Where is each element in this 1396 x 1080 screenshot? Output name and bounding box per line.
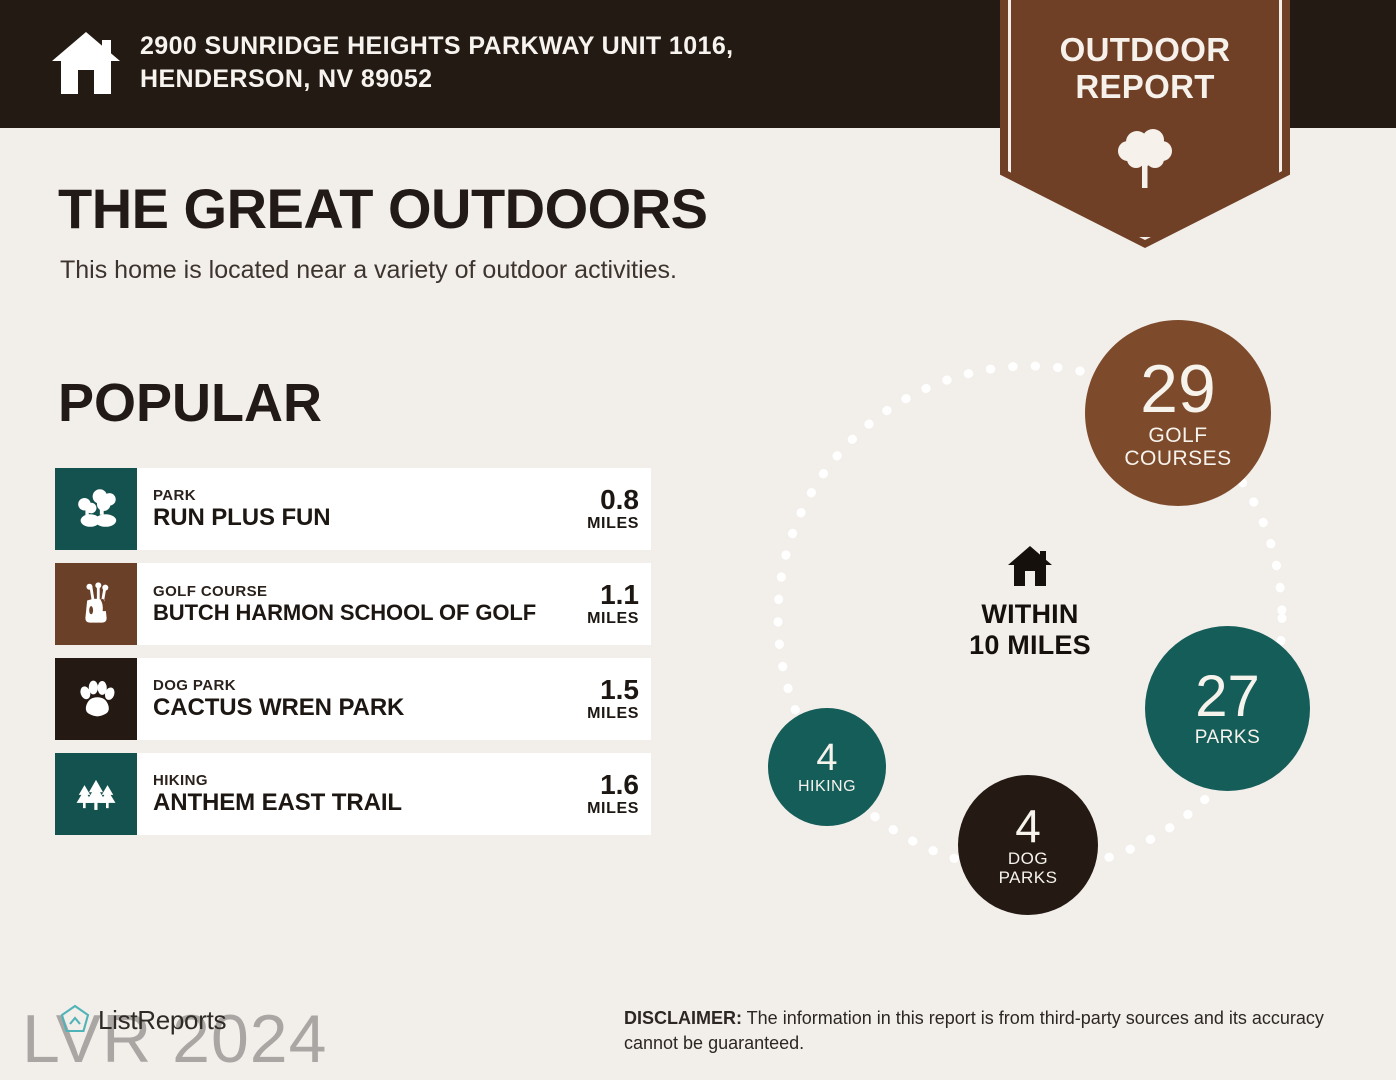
center-label-line-2: 10 MILES — [920, 630, 1140, 661]
list-item[interactable]: HIKING ANTHEM EAST TRAIL 1.6 MILES — [55, 753, 651, 835]
tree-icon — [1115, 126, 1175, 190]
list-item-text: HIKING ANTHEM EAST TRAIL — [137, 753, 547, 835]
within-10-miles-bubble-chart: 29 GOLF COURSES 27 PARKS 4 DOG PARKS 4 H… — [740, 320, 1340, 920]
paw-print-icon — [73, 676, 119, 722]
address-line-1: 2900 SUNRIDGE HEIGHTS PARKWAY UNIT 1016, — [140, 30, 940, 63]
home-icon — [1007, 545, 1053, 587]
list-item[interactable]: DOG PARK CACTUS WREN PARK 1.5 MILES — [55, 658, 651, 740]
address-line-2: HENDERSON, NV 89052 — [140, 63, 940, 96]
distance-value: 1.6 — [600, 770, 639, 799]
bubble-chart-center: WITHIN 10 MILES — [920, 545, 1140, 662]
paw-print-icon-tile — [55, 658, 137, 740]
list-item-name: BUTCH HARMON SCHOOL OF GOLF — [153, 600, 547, 625]
list-item-distance: 0.8 MILES — [547, 468, 651, 550]
list-item[interactable]: GOLF COURSE BUTCH HARMON SCHOOL OF GOLF … — [55, 563, 651, 645]
badge-title: OUTDOOR REPORT — [1000, 32, 1290, 106]
distance-value: 0.8 — [600, 485, 639, 514]
list-item-text: DOG PARK CACTUS WREN PARK — [137, 658, 547, 740]
distance-value: 1.1 — [600, 580, 639, 609]
list-item-text: PARK RUN PLUS FUN — [137, 468, 547, 550]
list-item-name: ANTHEM EAST TRAIL — [153, 789, 547, 817]
distance-unit: MILES — [587, 799, 639, 818]
list-item-name: CACTUS WREN PARK — [153, 694, 547, 722]
page-title: THE GREAT OUTDOORS — [58, 176, 708, 241]
popular-heading: POPULAR — [58, 372, 322, 434]
list-item-category: PARK — [153, 487, 547, 504]
list-item[interactable]: PARK RUN PLUS FUN 0.8 MILES — [55, 468, 651, 550]
disclaimer: DISCLAIMER: The information in this repo… — [624, 1006, 1338, 1056]
list-item-category: HIKING — [153, 772, 547, 789]
pine-trees-icon — [73, 771, 119, 817]
outdoor-report-badge: OUTDOOR REPORT — [1000, 0, 1290, 248]
bubble-value: 29 — [1140, 355, 1216, 423]
list-item-distance: 1.5 MILES — [547, 658, 651, 740]
bubble-parks[interactable]: 27 PARKS — [1145, 626, 1310, 791]
bubble-label-line-1: GOLF — [1148, 424, 1207, 447]
distance-value: 1.5 — [600, 675, 639, 704]
bubble-label: PARKS — [1195, 728, 1261, 749]
list-item-name: RUN PLUS FUN — [153, 504, 547, 532]
listreports-logo-text: ListReports — [98, 1005, 226, 1036]
list-item-distance: 1.6 MILES — [547, 753, 651, 835]
bubble-value: 4 — [816, 739, 837, 777]
bubble-label-line-2: COURSES — [1124, 447, 1231, 470]
center-label: WITHIN 10 MILES — [920, 599, 1140, 662]
popular-list: PARK RUN PLUS FUN 0.8 MILES — [55, 468, 651, 848]
bubble-label: DOG PARKS — [999, 850, 1058, 887]
park-trees-icon-tile — [55, 468, 137, 550]
home-icon — [50, 30, 122, 96]
distance-unit: MILES — [587, 704, 639, 723]
disclaimer-label: DISCLAIMER: — [624, 1008, 742, 1028]
pentagon-house-icon — [58, 1003, 92, 1037]
listreports-logo[interactable]: ListReports — [58, 1003, 226, 1037]
golf-bag-icon — [73, 581, 119, 627]
bubble-label: GOLF COURSES — [1124, 425, 1231, 470]
bubble-label-line-2: PARKS — [999, 868, 1058, 887]
bubble-value: 27 — [1195, 668, 1260, 726]
distance-unit: MILES — [587, 609, 639, 628]
bubble-label: HIKING — [798, 778, 856, 795]
badge-title-line-1: OUTDOOR — [1000, 32, 1290, 69]
bubble-dog-parks[interactable]: 4 DOG PARKS — [958, 775, 1098, 915]
list-item-distance: 1.1 MILES — [547, 563, 651, 645]
bubble-golf-courses[interactable]: 29 GOLF COURSES — [1085, 320, 1271, 506]
badge-title-line-2: REPORT — [1000, 69, 1290, 106]
distance-unit: MILES — [587, 514, 639, 533]
center-label-line-1: WITHIN — [920, 599, 1140, 630]
bubble-value: 4 — [1015, 803, 1041, 849]
bubble-label-line-1: DOG — [1008, 849, 1048, 868]
property-address: 2900 SUNRIDGE HEIGHTS PARKWAY UNIT 1016,… — [140, 30, 940, 96]
golf-bag-icon-tile — [55, 563, 137, 645]
bubble-hiking[interactable]: 4 HIKING — [768, 708, 886, 826]
page-subtitle: This home is located near a variety of o… — [60, 256, 677, 285]
list-item-category: DOG PARK — [153, 677, 547, 694]
list-item-category: GOLF COURSE — [153, 583, 547, 600]
park-trees-icon — [71, 484, 121, 534]
list-item-text: GOLF COURSE BUTCH HARMON SCHOOL OF GOLF — [137, 563, 547, 645]
pine-trees-icon-tile — [55, 753, 137, 835]
